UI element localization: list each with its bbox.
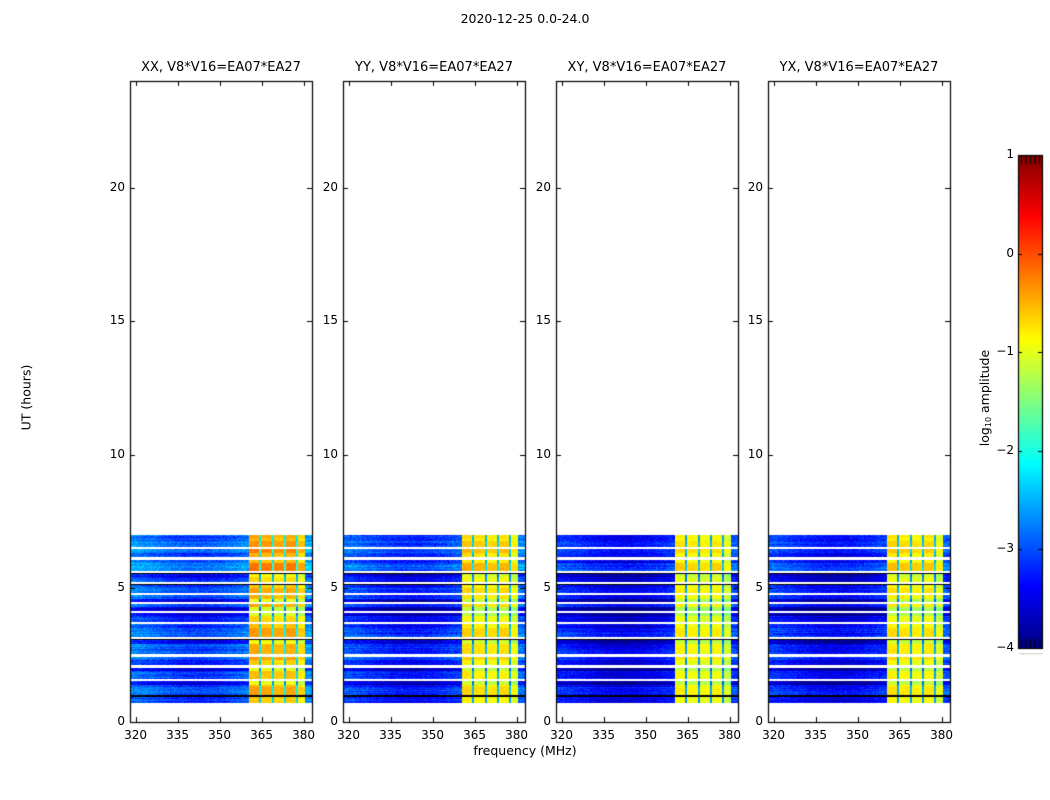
x-tick-label-p1-4: 380 — [495, 728, 539, 742]
x-tick-label-p1-1: 335 — [369, 728, 413, 742]
colorbar-tick-label-3: −2 — [988, 443, 1014, 457]
y-tick-label-p3-3: 15 — [733, 313, 763, 327]
y-tick-label-p1-4: 20 — [308, 180, 338, 194]
panel-title-xy: XY, V8*V16=EA07*EA27 — [556, 60, 738, 75]
colorbar-tick-label-0: 1 — [988, 147, 1014, 161]
x-tick-label-p3-1: 335 — [794, 728, 838, 742]
colorbar-tick-label-4: −3 — [988, 541, 1014, 555]
colorbar-label-tail: amplitude — [977, 350, 992, 417]
y-tick-label-p0-2: 10 — [95, 447, 125, 461]
panel-title-yy: YY, V8*V16=EA07*EA27 — [343, 60, 525, 75]
y-tick-label-p0-3: 15 — [95, 313, 125, 327]
x-tick-label-p1-2: 350 — [411, 728, 455, 742]
y-tick-label-p3-0: 0 — [733, 714, 763, 728]
x-tick-label-p1-3: 365 — [453, 728, 497, 742]
x-tick-label-p3-0: 320 — [752, 728, 796, 742]
x-tick-label-p2-4: 380 — [708, 728, 752, 742]
x-tick-label-p0-1: 335 — [156, 728, 200, 742]
x-tick-label-p2-2: 350 — [624, 728, 668, 742]
y-tick-label-p1-2: 10 — [308, 447, 338, 461]
y-tick-label-p0-0: 0 — [95, 714, 125, 728]
x-axis-label: frequency (MHz) — [0, 743, 1050, 758]
panel-title-xx: XX, V8*V16=EA07*EA27 — [130, 60, 312, 75]
x-tick-label-p3-3: 365 — [878, 728, 922, 742]
figure-canvas-root: 2020-12-25 0.0-24.0 XX, V8*V16=EA07*EA27… — [0, 0, 1050, 800]
y-axis-label: UT (hours) — [19, 338, 34, 458]
spectrogram-figure — [0, 0, 1050, 800]
y-tick-label-p0-4: 20 — [95, 180, 125, 194]
y-tick-label-p2-0: 0 — [521, 714, 551, 728]
colorbar-tick-label-5: −4 — [988, 640, 1014, 654]
y-tick-label-p2-2: 10 — [521, 447, 551, 461]
x-tick-label-p2-0: 320 — [540, 728, 584, 742]
y-tick-label-p3-4: 20 — [733, 180, 763, 194]
y-tick-label-p1-0: 0 — [308, 714, 338, 728]
x-tick-label-p2-3: 365 — [666, 728, 710, 742]
y-tick-label-p3-2: 10 — [733, 447, 763, 461]
x-tick-label-p2-1: 335 — [582, 728, 626, 742]
y-tick-label-p2-3: 15 — [521, 313, 551, 327]
y-tick-label-p3-1: 5 — [733, 580, 763, 594]
colorbar-label-subscript: 10 — [984, 417, 993, 427]
figure-suptitle: 2020-12-25 0.0-24.0 — [0, 11, 1050, 26]
x-tick-label-p0-3: 365 — [240, 728, 284, 742]
y-tick-label-p2-4: 20 — [521, 180, 551, 194]
colorbar-tick-label-2: −1 — [988, 344, 1014, 358]
x-tick-label-p0-4: 380 — [282, 728, 326, 742]
x-tick-label-p1-0: 320 — [327, 728, 371, 742]
y-tick-label-p1-1: 5 — [308, 580, 338, 594]
y-tick-label-p1-3: 15 — [308, 313, 338, 327]
y-tick-label-p2-1: 5 — [521, 580, 551, 594]
x-tick-label-p0-2: 350 — [198, 728, 242, 742]
y-tick-label-p0-1: 5 — [95, 580, 125, 594]
x-tick-label-p3-2: 350 — [836, 728, 880, 742]
x-tick-label-p3-4: 380 — [920, 728, 964, 742]
x-tick-label-p0-0: 320 — [114, 728, 158, 742]
colorbar-tick-label-1: 0 — [988, 246, 1014, 260]
panel-title-yx: YX, V8*V16=EA07*EA27 — [768, 60, 950, 75]
